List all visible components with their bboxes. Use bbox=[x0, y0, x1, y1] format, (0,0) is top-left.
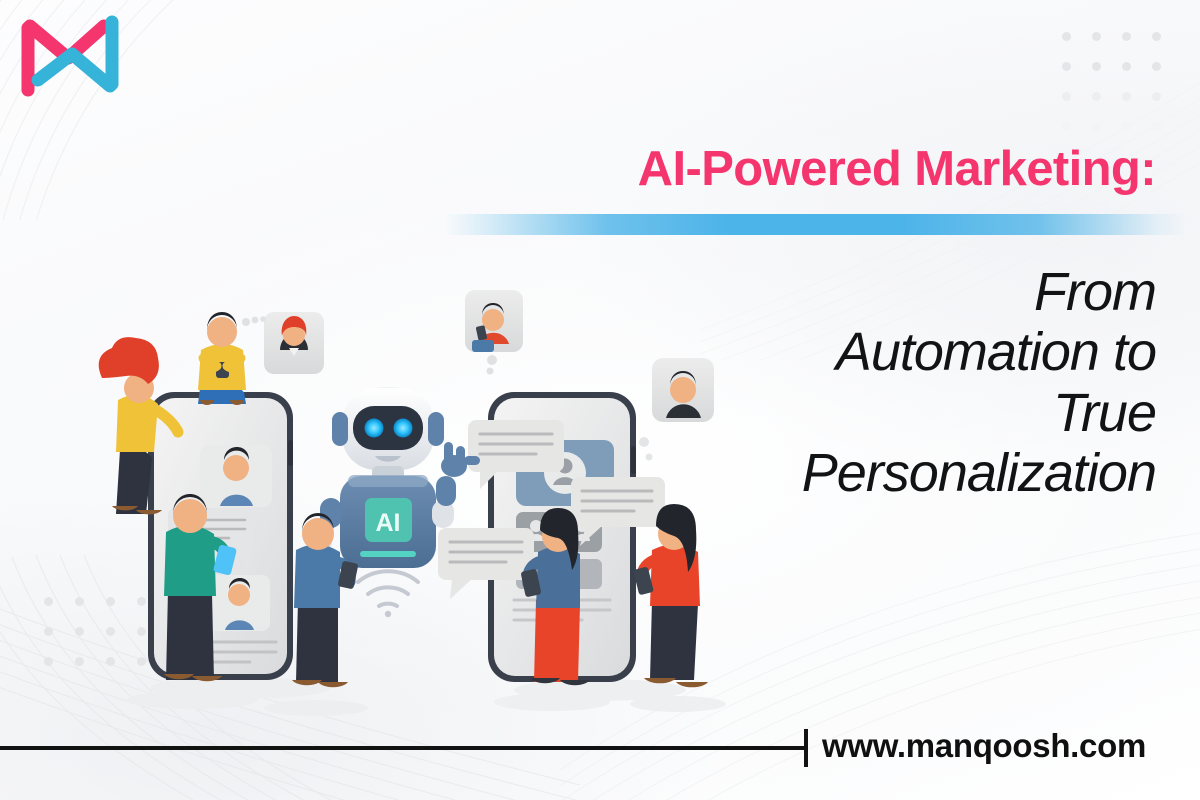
person-yellow-sweater-sitting bbox=[198, 312, 246, 405]
dot-grid-top-right bbox=[1062, 32, 1161, 131]
dot bbox=[1092, 62, 1101, 71]
dot bbox=[1152, 92, 1161, 101]
avatar-card-phone-man bbox=[465, 290, 523, 375]
ground-shadows bbox=[126, 677, 726, 716]
dot bbox=[1152, 122, 1161, 131]
wifi-icon bbox=[358, 571, 418, 617]
phone-avatar-card-2 bbox=[208, 575, 270, 631]
avatar-card-dark-shirt-man bbox=[652, 358, 714, 422]
dot bbox=[1092, 122, 1101, 131]
dot bbox=[1062, 92, 1071, 101]
dot bbox=[1122, 62, 1131, 71]
dot bbox=[1122, 92, 1131, 101]
manqoosh-logo[interactable] bbox=[16, 14, 124, 98]
person-red-shirt-walking bbox=[633, 504, 708, 687]
thought-dot bbox=[487, 368, 494, 375]
avatar-card-red-hair-woman bbox=[264, 312, 324, 374]
page-title: AI-Powered Marketing: bbox=[300, 143, 1156, 196]
poster-canvas: AI-Powered Marketing: From Automation to… bbox=[0, 0, 1200, 800]
dot bbox=[1062, 62, 1071, 71]
robot-eye-right bbox=[394, 419, 413, 438]
dot bbox=[1062, 32, 1071, 41]
phone-avatar-card-1 bbox=[200, 445, 272, 507]
dot bbox=[1122, 32, 1131, 41]
website-url[interactable]: www.manqoosh.com bbox=[822, 727, 1146, 765]
footer-divider-line bbox=[0, 746, 806, 750]
robot-eye-left bbox=[365, 419, 384, 438]
thought-dots-left bbox=[242, 316, 266, 326]
dot bbox=[1092, 32, 1101, 41]
dot bbox=[1062, 122, 1071, 131]
dot bbox=[1122, 122, 1131, 131]
dot bbox=[1152, 32, 1161, 41]
dot bbox=[1152, 62, 1161, 71]
thought-dot bbox=[487, 355, 497, 365]
title-accent-bar bbox=[444, 214, 1186, 235]
robot-chest-label: AI bbox=[376, 509, 401, 537]
ai-marketing-illustration: AI bbox=[40, 270, 770, 730]
thought-dots-right bbox=[639, 437, 653, 461]
footer-divider-tick bbox=[804, 729, 808, 767]
dot bbox=[1092, 92, 1101, 101]
